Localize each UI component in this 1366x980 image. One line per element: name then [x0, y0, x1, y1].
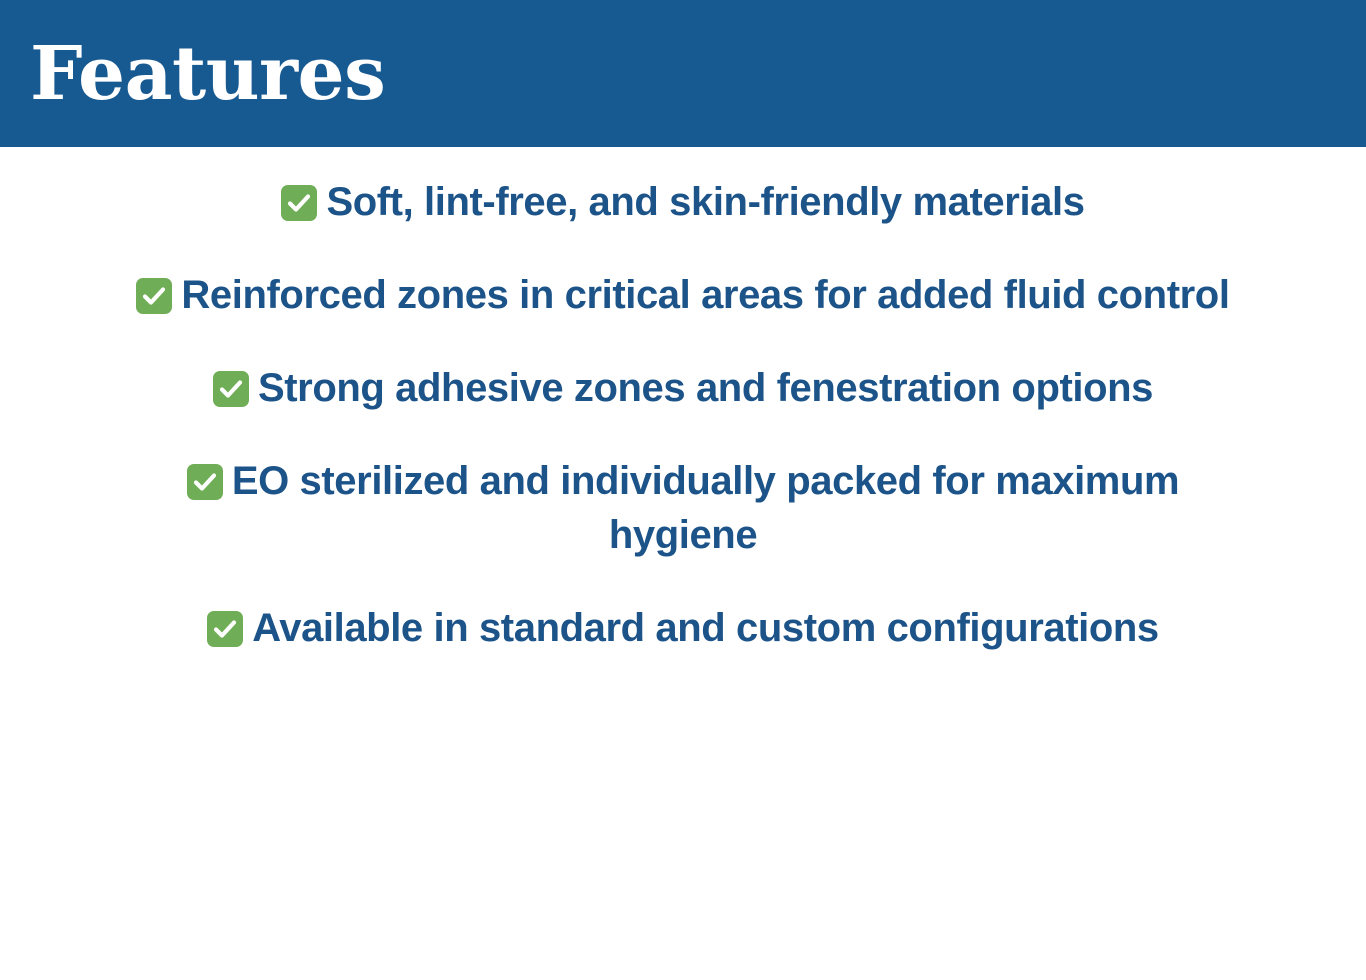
header-banner: Features [0, 0, 1366, 147]
page-title: Features [30, 37, 385, 111]
list-item: Reinforced zones in critical areas for a… [120, 268, 1246, 322]
list-item: Soft, lint-free, and skin-friendly mater… [120, 175, 1246, 229]
list-item: Available in standard and custom configu… [120, 601, 1246, 655]
check-square-icon [207, 611, 243, 647]
check-square-icon [187, 464, 223, 500]
check-square-icon [281, 185, 317, 221]
list-item-label: Available in standard and custom configu… [252, 606, 1159, 650]
list-item: EO sterilized and individually packed fo… [120, 454, 1246, 562]
list-item-label: EO sterilized and individually packed fo… [232, 459, 1179, 557]
list-item-label: Soft, lint-free, and skin-friendly mater… [326, 180, 1084, 224]
list-item-label: Reinforced zones in critical areas for a… [181, 273, 1229, 317]
features-list: Soft, lint-free, and skin-friendly mater… [0, 147, 1366, 980]
list-item-label: Strong adhesive zones and fenestration o… [258, 366, 1153, 410]
check-square-icon [136, 278, 172, 314]
check-square-icon [213, 371, 249, 407]
features-slide: Features Soft, lint-free, and skin-frien… [0, 0, 1366, 980]
list-item: Strong adhesive zones and fenestration o… [120, 361, 1246, 415]
